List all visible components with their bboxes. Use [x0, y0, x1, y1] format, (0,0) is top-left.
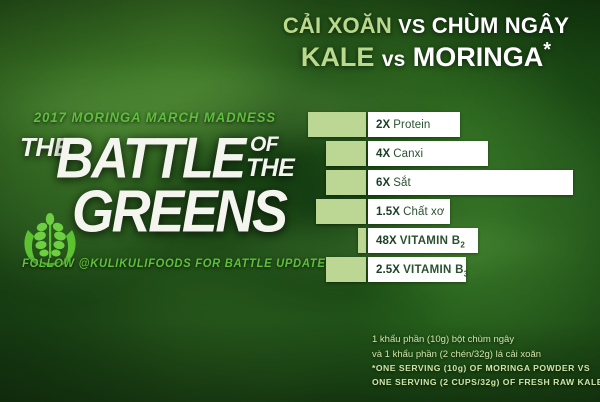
- infographic-canvas: CẢI XOĂN VS CHÙM NGÂY KALE vs MORINGA* 2…: [0, 0, 600, 402]
- bar-label: 4XCanxi: [368, 148, 423, 160]
- moringa-bar: 1.5XChất xơ: [368, 199, 450, 224]
- bar-label: 6XSắt: [368, 177, 411, 189]
- bar-multiplier: 6X: [376, 177, 390, 189]
- bar-nutrient-subscript: 2: [460, 240, 465, 249]
- bar-multiplier: 2X: [376, 119, 390, 131]
- bar-multiplier: 2.5X: [376, 264, 400, 276]
- bar-nutrient-name: Canxi: [393, 148, 423, 160]
- chart-row: 2XProtein: [0, 112, 600, 137]
- chart-row: 6XSắt: [0, 170, 600, 195]
- kale-bar: [316, 199, 366, 224]
- bar-multiplier: 1.5X: [376, 206, 400, 218]
- chart-row: 2.5XVITAMIN B3: [0, 257, 600, 282]
- footnote-line-2: và 1 khẩu phần (2 chén/32g) lá cải xoăn: [372, 348, 596, 363]
- bar-multiplier: 48X: [376, 235, 397, 247]
- bar-nutrient-name: VITAMIN B3: [403, 264, 468, 276]
- moringa-bar: 2.5XVITAMIN B3: [368, 257, 466, 282]
- moringa-bar: 48XVITAMIN B2: [368, 228, 478, 253]
- chart-row: 1.5XChất xơ: [0, 199, 600, 224]
- bar-nutrient-subscript: 3: [464, 269, 469, 278]
- chart-row: 4XCanxi: [0, 141, 600, 166]
- moringa-bar: 2XProtein: [368, 112, 460, 137]
- kale-bar: [326, 257, 366, 282]
- kale-bar: [308, 112, 366, 137]
- footnote-line-3: *ONE SERVING (10g) OF MORINGA POWDER VS: [372, 362, 596, 375]
- bar-label: 1.5XChất xơ: [368, 206, 445, 218]
- bar-nutrient-name: Chất xơ: [403, 206, 444, 218]
- moringa-bar: 4XCanxi: [368, 141, 488, 166]
- kale-bar: [326, 141, 366, 166]
- bar-label: 2.5XVITAMIN B3: [368, 264, 468, 276]
- footnote-block: 1 khẩu phần (10g) bột chùm ngây và 1 khẩ…: [372, 333, 596, 389]
- moringa-bar: 6XSắt: [368, 170, 573, 195]
- bar-nutrient-name: Protein: [393, 119, 430, 131]
- kale-bar: [326, 170, 366, 195]
- kale-bar: [358, 228, 366, 253]
- bar-label: 48XVITAMIN B2: [368, 235, 465, 247]
- bar-nutrient-name: VITAMIN B2: [400, 235, 465, 247]
- bar-nutrient-name: Sắt: [393, 177, 411, 189]
- chart-row: 48XVITAMIN B2: [0, 228, 600, 253]
- footnote-line-4: ONE SERVING (2 CUPS/32g) OF FRESH RAW KA…: [372, 376, 596, 389]
- footnote-line-1: 1 khẩu phần (10g) bột chùm ngây: [372, 333, 596, 348]
- bar-label: 2XProtein: [368, 119, 430, 131]
- bar-multiplier: 4X: [376, 148, 390, 160]
